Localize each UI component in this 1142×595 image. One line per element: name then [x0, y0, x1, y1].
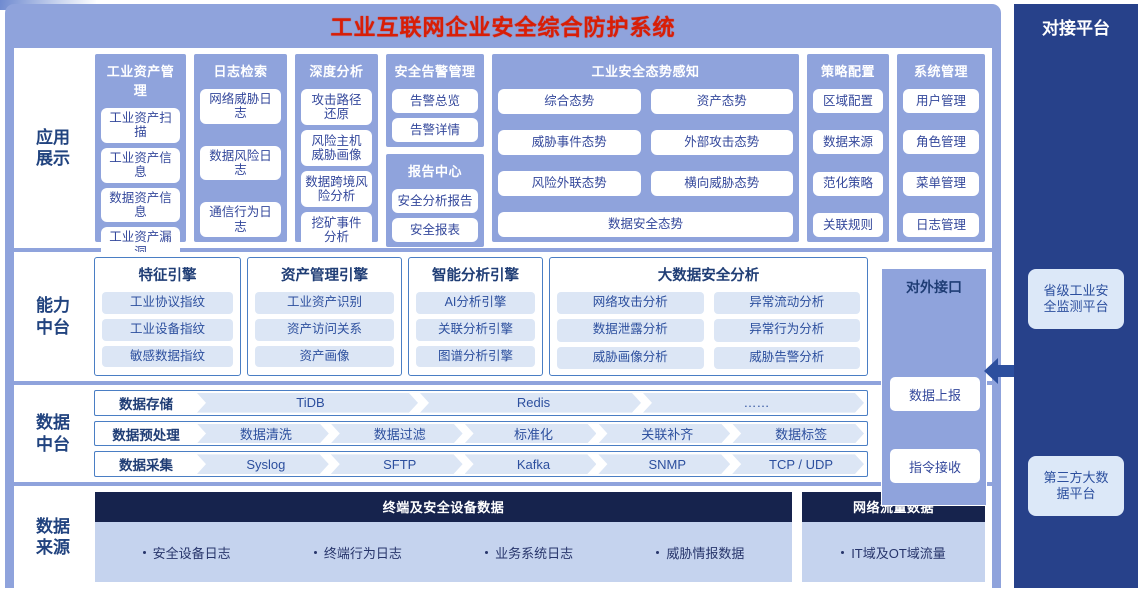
column-title: 大数据安全分析	[557, 262, 860, 288]
bullet-icon	[314, 551, 317, 554]
app-item[interactable]: 风险主机 威胁画像	[301, 130, 372, 166]
capability-column-bigdata-analysis[interactable]: 大数据安全分析 网络攻击分析 异常流动分析 数据泄露分析 异常行为分析 威胁画像…	[549, 257, 868, 376]
data-chip[interactable]: 数据标签	[732, 424, 864, 444]
app-item[interactable]: 工业资产信息	[101, 148, 180, 183]
app-item[interactable]: 横向威胁态势	[651, 171, 794, 196]
data-chip[interactable]: 数据过滤	[331, 424, 463, 444]
bullet-icon	[656, 551, 659, 554]
bullet-icon	[485, 551, 488, 554]
column-title: 资产管理引擎	[255, 262, 394, 288]
app-item[interactable]: 告警总览	[392, 89, 478, 113]
app-item[interactable]: 安全报表	[392, 218, 478, 242]
data-chip[interactable]: Syslog	[197, 454, 329, 474]
docking-platform-item[interactable]: 第三方大数 据平台	[1028, 456, 1124, 516]
app-item[interactable]: 攻击路径 还原	[301, 89, 372, 125]
layer-label-data-source: 数据 来源	[14, 486, 92, 588]
data-chip[interactable]: SFTP	[331, 454, 463, 474]
row-label: 数据预处理	[95, 422, 197, 446]
main-system-frame: 工业互联网企业安全综合防护系统 应用 展示 工业资产管理 工业资产扫描 工业资产…	[5, 4, 1001, 592]
external-interface-command[interactable]: 指令接收	[890, 449, 980, 483]
group-title: 终端及安全设备数据	[95, 492, 792, 522]
app-column-asset-management[interactable]: 工业资产管理 工业资产扫描 工业资产信息 数据资产信息 工业资产漏洞	[94, 53, 187, 243]
layer-label-data-platform: 数据 中台	[14, 385, 92, 482]
bottom-spacer	[0, 588, 1142, 595]
source-item-label: 安全设备日志	[153, 543, 231, 562]
column-title: 深度分析	[301, 59, 372, 84]
app-item[interactable]: 用户管理	[903, 89, 979, 113]
app-item[interactable]: 安全分析报告	[392, 189, 478, 213]
bullet-icon	[143, 551, 146, 554]
app-item[interactable]: 菜单管理	[903, 172, 979, 196]
data-row-storage: 数据存储 TiDB Redis ……	[94, 390, 868, 416]
capability-item[interactable]: 关联分析引擎	[416, 319, 535, 341]
data-chip[interactable]: Kafka	[465, 454, 597, 474]
layer-data-source: 数据 来源 终端及安全设备数据 安全设备日志 终端行为日志	[14, 486, 992, 588]
app-item[interactable]: 区域配置	[813, 89, 883, 113]
app-item[interactable]: 关联规则	[813, 213, 883, 237]
capability-item[interactable]: 资产访问关系	[255, 319, 394, 341]
data-platform-rows: 数据存储 TiDB Redis …… 数据预处理 数据清洗 数据过滤	[92, 385, 992, 482]
source-item: IT域及OT域流量	[808, 543, 979, 562]
app-item[interactable]: 工业资产扫描	[101, 108, 180, 143]
capability-item[interactable]: 异常流动分析	[714, 292, 861, 314]
column-title: 安全告警管理	[392, 59, 478, 84]
app-column-situation-awareness[interactable]: 工业安全态势感知 综合态势 资产态势 威胁事件态势 外部攻击态势 风险外联态势 …	[491, 53, 800, 243]
app-item[interactable]: 风险外联态势	[498, 171, 641, 196]
external-interface-title: 对外接口	[906, 275, 962, 297]
source-item: 威胁情报数据	[615, 543, 786, 562]
source-item-label: IT域及OT域流量	[851, 543, 946, 562]
external-interface-upload[interactable]: 数据上报	[890, 377, 980, 411]
app-column-deep-analysis[interactable]: 深度分析 攻击路径 还原 风险主机 威胁画像 数据跨境风 险分析 挖矿事件 分析	[294, 53, 379, 243]
capability-item[interactable]: 数据泄露分析	[557, 319, 704, 341]
architecture-diagram: 工业互联网企业安全综合防护系统 应用 展示 工业资产管理 工业资产扫描 工业资产…	[0, 0, 1142, 595]
source-item-label: 终端行为日志	[324, 543, 402, 562]
app-item[interactable]: 告警详情	[392, 118, 478, 142]
docking-platform-item[interactable]: 省级工业安 全监测平台	[1028, 269, 1124, 329]
docking-platform-panel: 对接平台 省级工业安 全监测平台 第三方大数 据平台	[1014, 4, 1138, 592]
layers-container: 应用 展示 工业资产管理 工业资产扫描 工业资产信息 数据资产信息 工业资产漏洞	[14, 48, 992, 588]
capability-item[interactable]: 工业设备指纹	[102, 319, 233, 341]
source-item: 业务系统日志	[444, 543, 615, 562]
app-item[interactable]: 数据跨境风 险分析	[301, 171, 372, 207]
capability-columns: 特征引擎 工业协议指纹 工业设备指纹 敏感数据指纹 资产管理引擎 工业资产识别 …	[92, 252, 992, 381]
app-column-alarm-management[interactable]: 安全告警管理 告警总览 告警详情	[385, 53, 485, 148]
capability-column-feature-engine[interactable]: 特征引擎 工业协议指纹 工业设备指纹 敏感数据指纹	[94, 257, 241, 376]
app-item[interactable]: 角色管理	[903, 130, 979, 154]
capability-item[interactable]: 工业协议指纹	[102, 292, 233, 314]
capability-item[interactable]: 图谱分析引擎	[416, 346, 535, 368]
column-title: 智能分析引擎	[416, 262, 535, 288]
page-title: 工业互联网企业安全综合防护系统	[330, 10, 675, 42]
data-chip[interactable]: 关联补齐	[598, 424, 730, 444]
capability-item[interactable]: 资产画像	[255, 346, 394, 368]
data-chip[interactable]: 标准化	[465, 424, 597, 444]
app-item[interactable]: 挖矿事件 分析	[301, 212, 372, 248]
capability-item[interactable]: 网络攻击分析	[557, 292, 704, 314]
app-item[interactable]: 外部攻击态势	[651, 130, 794, 155]
column-title: 日志检索	[200, 59, 281, 84]
app-column-policy-config[interactable]: 策略配置 区域配置 数据来源 范化策略 关联规则	[806, 53, 890, 243]
column-title: 报告中心	[392, 159, 478, 184]
layer-label-capability: 能力 中台	[14, 252, 92, 381]
data-chip[interactable]: Redis	[420, 393, 641, 413]
row-label: 数据存储	[95, 391, 197, 415]
title-bar: 工业互联网企业安全综合防护系统	[5, 4, 1001, 48]
layer-label-application: 应用 展示	[14, 48, 92, 248]
bullet-icon	[841, 551, 844, 554]
capability-item[interactable]: AI分析引擎	[416, 292, 535, 314]
column-title: 策略配置	[813, 59, 883, 84]
source-item-label: 业务系统日志	[495, 543, 573, 562]
row-label: 数据采集	[95, 452, 197, 476]
source-group-terminal: 终端及安全设备数据 安全设备日志 终端行为日志	[94, 491, 793, 583]
layer-capability: 能力 中台 特征引擎 工业协议指纹 工业设备指纹 敏感数据指纹 资产管理引擎	[14, 252, 992, 381]
app-column-alarm-stack: 安全告警管理 告警总览 告警详情 报告中心 安全分析报告 安全报表	[385, 53, 485, 243]
app-item[interactable]: 网络威胁日志	[200, 89, 281, 124]
app-item[interactable]: 通信行为日志	[200, 202, 281, 237]
external-interface-panel: 对外接口 数据上报 指令接收	[881, 268, 987, 506]
data-chip[interactable]: ……	[643, 393, 864, 413]
app-item[interactable]: 数据资产信息	[101, 188, 180, 223]
data-row-preprocess: 数据预处理 数据清洗 数据过滤 标准化 关联补齐 数据标签	[94, 421, 868, 447]
app-column-log-search[interactable]: 日志检索 网络威胁日志 数据风险日志 通信行为日志	[193, 53, 288, 243]
capability-item[interactable]: 威胁画像分析	[557, 347, 704, 369]
capability-column-asset-engine[interactable]: 资产管理引擎 工业资产识别 资产访问关系 资产画像	[247, 257, 402, 376]
column-title: 工业安全态势感知	[498, 59, 793, 84]
capability-item[interactable]: 威胁告警分析	[714, 347, 861, 369]
layer-application: 应用 展示 工业资产管理 工业资产扫描 工业资产信息 数据资产信息 工业资产漏洞	[14, 48, 992, 248]
column-title: 工业资产管理	[101, 59, 180, 103]
capability-item[interactable]: 工业资产识别	[255, 292, 394, 314]
app-column-report-center[interactable]: 报告中心 安全分析报告 安全报表	[385, 153, 485, 248]
app-item[interactable]: 威胁事件态势	[498, 130, 641, 155]
capability-item[interactable]: 异常行为分析	[714, 319, 861, 341]
layer-data-platform: 数据 中台 数据存储 TiDB Redis …… 数据预处理	[14, 385, 992, 482]
docking-platform-title: 对接平台	[1042, 14, 1110, 39]
app-column-system-management[interactable]: 系统管理 用户管理 角色管理 菜单管理 日志管理	[896, 53, 986, 243]
source-item: 安全设备日志	[101, 543, 272, 562]
column-title: 系统管理	[903, 59, 979, 84]
app-item[interactable]: 范化策略	[813, 172, 883, 196]
data-chip[interactable]: 数据清洗	[197, 424, 329, 444]
source-item-label: 威胁情报数据	[666, 543, 744, 562]
data-chip[interactable]: TCP / UDP	[732, 454, 864, 474]
column-title: 特征引擎	[102, 262, 233, 288]
app-item-full-width[interactable]: 数据安全态势	[498, 212, 793, 237]
app-item[interactable]: 综合态势	[498, 89, 641, 114]
app-item[interactable]: 日志管理	[903, 213, 979, 237]
data-source-groups: 终端及安全设备数据 安全设备日志 终端行为日志	[92, 486, 992, 588]
app-item[interactable]: 数据来源	[813, 130, 883, 154]
capability-item[interactable]: 敏感数据指纹	[102, 346, 233, 368]
application-columns: 工业资产管理 工业资产扫描 工业资产信息 数据资产信息 工业资产漏洞 日志检索 …	[92, 48, 992, 248]
source-item: 终端行为日志	[272, 543, 443, 562]
data-chip[interactable]: SNMP	[598, 454, 730, 474]
capability-column-intelligent-engine[interactable]: 智能分析引擎 AI分析引擎 关联分析引擎 图谱分析引擎	[408, 257, 543, 376]
data-row-collection: 数据采集 Syslog SFTP Kafka SNMP TCP / UDP	[94, 451, 868, 477]
app-item[interactable]: 资产态势	[651, 89, 794, 114]
app-item[interactable]: 数据风险日志	[200, 146, 281, 181]
data-chip[interactable]: TiDB	[197, 393, 418, 413]
